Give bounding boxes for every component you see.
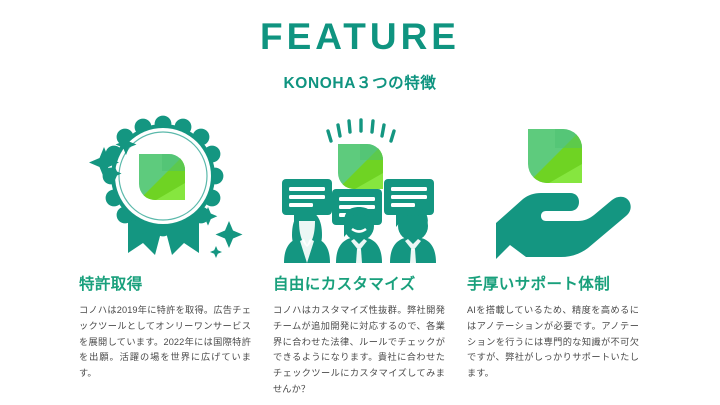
section-header: FEATURE KONOHA３つの特徴 [0, 0, 720, 93]
page-subtitle: KONOHA３つの特徴 [0, 71, 720, 93]
feature-body-customize: コノハはカスタマイズ性抜群。弊社開発チームが追加開発に対応するので、各業界に合わ… [273, 303, 445, 398]
feature-card-customize: 自由にカスタマイズ コノハはカスタマイズ性抜群。弊社開発チームが追加開発に対応す… [267, 112, 453, 398]
customize-people-icon [267, 112, 453, 262]
support-hand-leaf-icon [461, 112, 647, 262]
feature-section: FEATURE KONOHA３つの特徴 [0, 0, 720, 405]
feature-body-support: AIを搭載しているため、精度を高めるにはアノテーションが必要です。アノテーション… [467, 303, 639, 382]
feature-title-support: 手厚いサポート体制 [467, 272, 610, 294]
feature-card-patent: 特許取得 コノハは2019年に特許を取得。広告チェックツールとしてオンリーワンサ… [73, 112, 259, 398]
page-title: FEATURE [0, 18, 720, 57]
feature-body-patent: コノハは2019年に特許を取得。広告チェックツールとしてオンリーワンサービスを展… [79, 303, 251, 382]
feature-card-support: 手厚いサポート体制 AIを搭載しているため、精度を高めるにはアノテーションが必要… [461, 112, 647, 398]
feature-columns: 特許取得 コノハは2019年に特許を取得。広告チェックツールとしてオンリーワンサ… [0, 112, 720, 398]
feature-title-customize: 自由にカスタマイズ [273, 272, 416, 294]
feature-title-patent: 特許取得 [79, 272, 143, 294]
patent-badge-icon [73, 112, 259, 262]
